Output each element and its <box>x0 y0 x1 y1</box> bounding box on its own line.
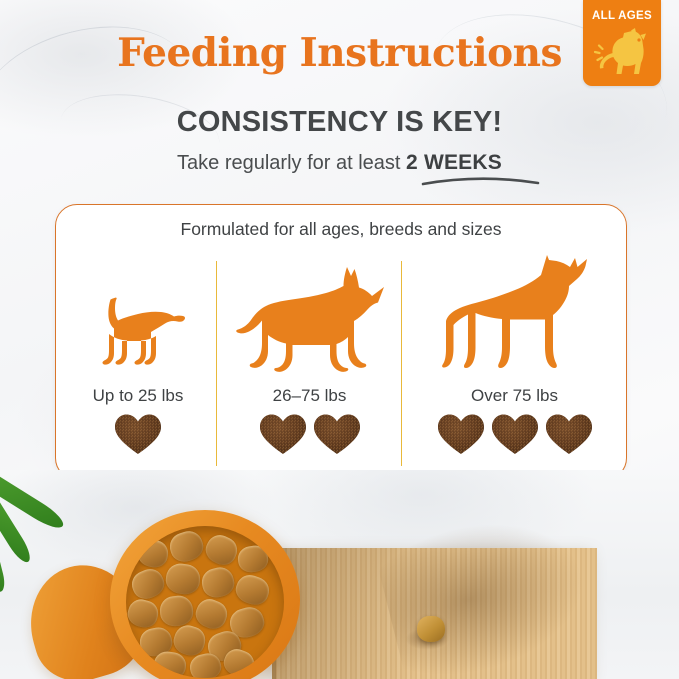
treat-count-medium <box>218 412 401 456</box>
page-title: Feeding Instructions <box>0 34 679 73</box>
size-column-large: Over 75 lbs <box>403 255 626 456</box>
kibble-heart-icon <box>490 412 540 456</box>
sitting-dog-icon <box>594 27 650 79</box>
large-dog-icon <box>441 253 589 377</box>
tagline: Take regularly for at least 2 WEEKS <box>0 152 679 173</box>
size-label-large: Over 75 lbs <box>403 387 626 404</box>
feeding-instructions-infographic: Feeding Instructions CONSISTENCY IS KEY!… <box>0 0 679 679</box>
product-photo <box>0 470 679 679</box>
medium-dog-icon <box>235 265 385 377</box>
page-subtitle: CONSISTENCY IS KEY! <box>0 108 679 137</box>
all-ages-badge-label: ALL AGES <box>583 10 661 22</box>
size-column-medium: 26–75 lbs <box>218 255 401 456</box>
column-divider <box>401 261 402 466</box>
size-label-small: Up to 25 lbs <box>60 387 216 404</box>
hand-holding-kibble <box>398 470 679 656</box>
small-dog-illustration <box>60 255 216 377</box>
card-heading: Formulated for all ages, breeds and size… <box>56 221 626 239</box>
large-dog-illustration <box>403 255 626 377</box>
kibble-heart-icon <box>113 412 163 456</box>
size-column-small: Up to 25 lbs <box>60 255 216 456</box>
feeding-chart-card: Formulated for all ages, breeds and size… <box>55 204 627 480</box>
small-dog-icon <box>84 291 192 377</box>
tagline-underline <box>421 174 540 186</box>
size-label-medium: 26–75 lbs <box>218 387 401 404</box>
kibble-heart-icon <box>312 412 362 456</box>
tagline-prefix: Take regularly for at least <box>177 152 406 174</box>
medium-dog-illustration <box>218 255 401 377</box>
kibble-heart-icon <box>436 412 486 456</box>
bowl-kibble-fill <box>126 526 284 678</box>
kibble-heart-icon <box>258 412 308 456</box>
column-divider <box>216 261 217 466</box>
kibble-heart-icon <box>544 412 594 456</box>
treat-count-small <box>60 412 216 456</box>
all-ages-badge: ALL AGES <box>583 0 661 86</box>
treat-count-large <box>403 412 626 456</box>
tagline-emphasis: 2 WEEKS <box>406 151 502 174</box>
